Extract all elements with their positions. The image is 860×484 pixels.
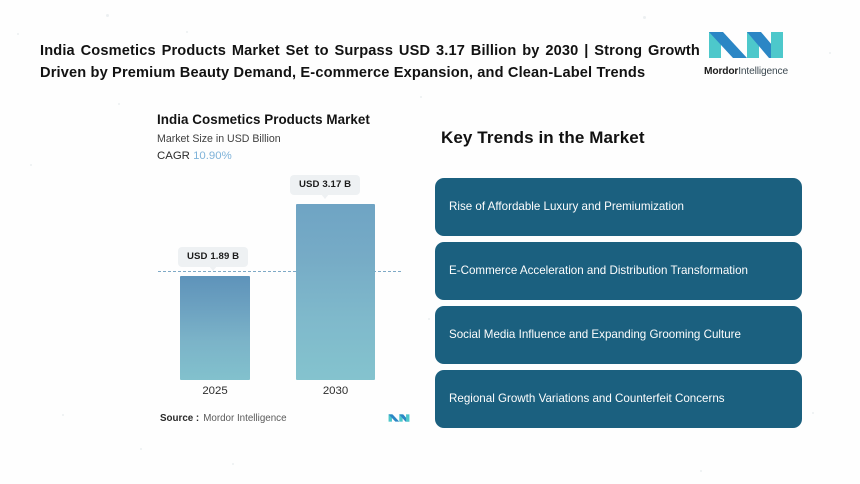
bar-chart-plot-area: USD 1.89 B USD 3.17 B 2025 2030: [157, 175, 407, 380]
background-speck: [186, 31, 188, 33]
background-speck: [30, 164, 32, 166]
infographic-page: India Cosmetics Products Market Set to S…: [0, 0, 860, 484]
trend-card-label: Social Media Influence and Expanding Gro…: [449, 327, 741, 343]
page-header: India Cosmetics Products Market Set to S…: [40, 40, 700, 84]
trend-card-2[interactable]: E-Commerce Acceleration and Distribution…: [435, 242, 802, 300]
background-speck: [62, 414, 64, 416]
trend-card-label: Rise of Affordable Luxury and Premiumiza…: [449, 199, 684, 215]
x-axis-label-2025: 2025: [180, 385, 250, 397]
chart-subtitle: Market Size in USD Billion: [157, 133, 407, 145]
trend-card-label: E-Commerce Acceleration and Distribution…: [449, 263, 748, 279]
background-speck: [106, 14, 109, 17]
background-speck: [812, 412, 814, 414]
trend-card-label: Regional Growth Variations and Counterfe…: [449, 391, 725, 407]
source-label: Source :: [160, 413, 199, 424]
cagr-label: CAGR: [157, 150, 190, 162]
bar-value-label-2030: USD 3.17 B: [290, 175, 360, 195]
background-speck: [232, 463, 234, 465]
x-axis-label-2030: 2030: [296, 385, 375, 397]
background-speck: [829, 52, 831, 54]
brand-logo[interactable]: MordorIntelligence: [703, 28, 789, 77]
background-speck: [643, 16, 646, 19]
mordor-intelligence-logo-icon: [707, 28, 785, 62]
background-speck: [428, 318, 430, 320]
bar-2030[interactable]: [296, 204, 375, 380]
background-speck: [118, 103, 120, 105]
background-speck: [420, 96, 422, 98]
chart-header: India Cosmetics Products Market Market S…: [157, 112, 407, 162]
trend-card-1[interactable]: Rise of Affordable Luxury and Premiumiza…: [435, 178, 802, 236]
bar-2025[interactable]: [180, 276, 250, 380]
brand-name-light: Intelligence: [738, 66, 788, 77]
bar-value-label-2025: USD 1.89 B: [178, 247, 248, 267]
chart-title: India Cosmetics Products Market: [157, 112, 407, 127]
background-speck: [700, 470, 702, 472]
brand-wordmark: MordorIntelligence: [703, 66, 789, 77]
mordor-intelligence-mark-icon: [388, 412, 410, 424]
cagr-value: 10.90%: [193, 150, 232, 162]
trend-card-4[interactable]: Regional Growth Variations and Counterfe…: [435, 370, 802, 428]
background-speck: [140, 448, 142, 450]
key-trends-title: Key Trends in the Market: [441, 128, 645, 148]
brand-name-bold: Mordor: [704, 66, 738, 77]
page-title-line-1: India Cosmetics Products Market Set to S…: [40, 40, 700, 62]
background-speck: [17, 33, 19, 35]
page-title-line-2: Driven by Premium Beauty Demand, E-comme…: [40, 62, 700, 84]
source-value: Mordor Intelligence: [203, 413, 286, 424]
cagr-row: CAGR 10.90%: [157, 150, 407, 162]
chart-source: Source : Mordor Intelligence: [160, 412, 410, 424]
page-title: India Cosmetics Products Market Set to S…: [40, 40, 700, 84]
trend-card-3[interactable]: Social Media Influence and Expanding Gro…: [435, 306, 802, 364]
